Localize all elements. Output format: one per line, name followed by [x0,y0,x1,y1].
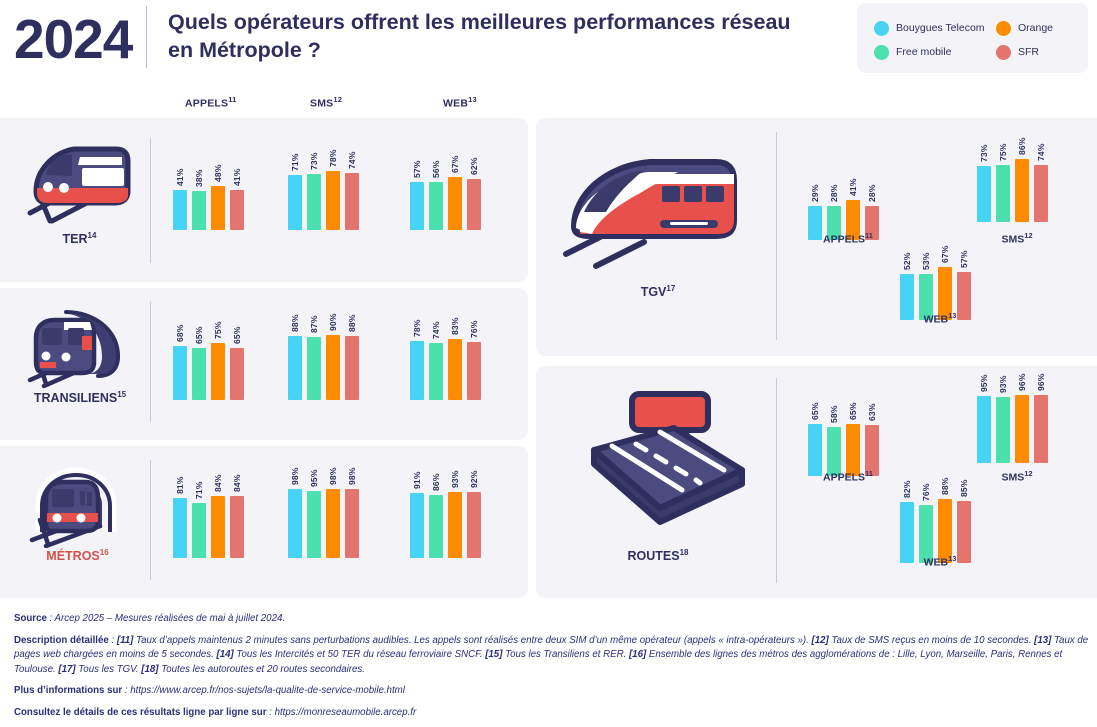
bar-free-mobile: 71% [192,503,206,559]
mode-label-text: TGV [641,285,667,299]
bar [173,346,187,400]
bar [429,495,443,558]
bar-orange: 78% [326,171,340,230]
legend: Bouygues Telecom Orange Free mobile SFR [857,3,1088,73]
bar-sfr: 62% [467,179,481,230]
bar-chart-metros-appels: 81%71%84%84% [173,466,253,558]
card-divider [150,138,151,263]
bar-value-label: 53% [921,252,931,270]
bars: 57%56%67%62% [410,177,481,231]
bar [307,337,321,401]
bar-value-label: 98% [347,467,357,485]
bar-value-label: 58% [829,405,839,423]
bar-free-mobile: 95% [307,491,321,559]
bars: 88%87%90%88% [288,335,359,400]
bar-value-label: 65% [194,326,204,344]
bar-value-label: 96% [1036,373,1046,391]
footnote-number: [14] [217,649,234,660]
bar-orange: 90% [326,335,340,400]
legend-item-bouygues[interactable]: Bouygues Telecom [874,16,996,40]
card-ter: TER14 41%38%48%41% 71%73%78%74% 57%56%67… [0,118,528,282]
legend-label: Free mobile [896,46,951,58]
bar-chart-tgv-sms: 73%75%86%74% [977,130,1057,222]
bar [326,171,340,230]
bar-value-label: 81% [175,476,185,494]
bar-value-label: 76% [469,320,479,338]
sub-label-text: APPELS [823,234,865,246]
card-divider [150,302,151,422]
bar-value-label: 41% [848,178,858,196]
bar-bouygues-telecom: 68% [173,346,187,400]
bar-value-label: 65% [232,326,242,344]
card-divider [776,132,777,340]
bar-value-label: 71% [194,481,204,499]
footnote-ref: 14 [88,231,97,240]
page-title: Quels opérateurs offrent les meilleures … [168,8,808,64]
bar-value-label: 48% [213,164,223,182]
bars: 98%95%98%98% [288,489,359,558]
bar-chart-transiliens-appels: 68%65%75%65% [173,308,253,400]
bar [230,348,244,401]
legend-label: Orange [1018,22,1053,34]
bar-value-label: 95% [309,469,319,487]
bar-free-mobile: 56% [429,182,443,230]
footer-sep: : [109,635,117,646]
mode-label-transiliens: TRANSILIENS15 [5,390,155,405]
bar-sfr: 74% [345,173,359,230]
bar-value-label: 28% [829,184,839,202]
footnote-ref: 11 [228,95,236,104]
footnote-number: [17] [58,664,75,675]
bar [1015,395,1029,463]
sub-label-text: APPELS [823,472,865,484]
bar-value-label: 68% [175,324,185,342]
bars: 78%74%83%76% [410,339,481,401]
bar-bouygues-telecom: 88% [288,336,302,400]
legend-label: Bouygues Telecom [896,22,985,34]
card-divider [150,460,151,580]
bar [288,336,302,400]
bar-value-label: 91% [412,471,422,489]
column-header-sms: SMS12 [310,95,342,110]
bar-orange: 67% [448,177,462,231]
footer-notes: [11] Taux d’appels maintenus 2 minutes s… [14,635,1088,675]
bar [345,336,359,400]
suburban-train-tunnel-icon [24,300,134,395]
sub-label-routes-appels: APPELS11 [788,469,908,484]
bar [230,496,244,558]
bar-bouygues-telecom: 81% [173,498,187,559]
dot-icon [996,21,1011,36]
bar-value-label: 93% [450,470,460,488]
bar-orange: 75% [211,343,225,401]
footnote-number: [13] [1034,635,1051,646]
year-title: 2024 [14,8,132,70]
bar [448,492,462,559]
bar [345,489,359,558]
bar [977,396,991,464]
bar [429,182,443,230]
bar [448,177,462,231]
bar-value-label: 67% [940,245,950,263]
legend-item-free[interactable]: Free mobile [874,40,996,64]
bar [977,166,991,223]
footnote-ref: 16 [100,548,109,557]
column-header-web-label: WEB [443,98,468,110]
bar [996,397,1010,464]
bar-value-label: 86% [431,473,441,491]
column-header-appels-label: APPELS [185,98,228,110]
bar-sfr: 76% [467,342,481,400]
sub-label-text: WEB [924,314,949,326]
bar-value-label: 67% [450,155,460,173]
bar-chart-ter-appels: 41%38%48%41% [173,138,253,230]
footnote-ref: 12 [1024,231,1032,240]
regional-train-icon [22,135,137,235]
bar-value-label: 29% [810,184,820,202]
bar-value-label: 41% [232,168,242,186]
bar-value-label: 57% [412,160,422,178]
bar-orange: 83% [448,339,462,401]
bar-value-label: 65% [810,402,820,420]
bar-value-label: 82% [902,480,912,498]
bar-value-label: 96% [1017,373,1027,391]
bar-value-label: 76% [921,483,931,501]
bar-bouygues-telecom: 57% [410,182,424,231]
legend-label: SFR [1018,46,1039,58]
bar-orange: 48% [211,186,225,230]
bar-value-label: 87% [309,315,319,333]
bar [1034,165,1048,222]
footer-source-label: Source [14,613,47,624]
bar-chart-routes-appels: 65%58%65%63% [808,384,888,476]
bar-value-label: 73% [309,152,319,170]
bar-value-label: 65% [848,402,858,420]
dot-icon [874,21,889,36]
legend-item-sfr[interactable]: SFR [996,40,1086,64]
footer-source-text: : Arcep 2025 – Mesures réalisées de mai … [47,613,285,624]
footnote-ref: 13 [468,95,477,104]
bar-orange: 84% [211,496,225,558]
bar-value-label: 83% [450,317,460,335]
bar-value-label: 90% [328,313,338,331]
legend-item-orange[interactable]: Orange [996,16,1086,40]
footer-source: Source : Arcep 2025 – Mesures réalisées … [14,612,1089,627]
bars: 68%65%75%65% [173,343,244,401]
bar-bouygues-telecom: 78% [410,341,424,400]
bar [326,489,340,558]
bar [467,179,481,230]
mode-label-tgv: TGV17 [558,284,758,299]
bar-bouygues-telecom: 98% [288,489,302,558]
bar [996,165,1010,223]
bar-value-label: 98% [328,467,338,485]
footer-details: Consultez le détails de ces résultats li… [14,706,1089,721]
bar-value-label: 41% [175,168,185,186]
bar [192,191,206,230]
bar-value-label: 38% [194,169,204,187]
bar-free-mobile: 73% [307,174,321,231]
bar-sfr: 88% [345,336,359,400]
card-metros: MÉTROS16 81%71%84%84% 98%95%98%98% 91%86… [0,446,528,598]
column-header-sms-label: SMS [310,98,333,110]
bar [1015,159,1029,222]
highway-sign-icon [574,384,754,539]
footnote-ref: 13 [948,311,956,320]
bar [173,498,187,559]
sub-label-routes-sms: SMS12 [957,469,1077,484]
bar-chart-routes-sms: 95%93%96%96% [977,371,1057,463]
bar-value-label: 95% [979,374,989,392]
footer-details-label: Consultez le détails de ces résultats li… [14,707,267,718]
card-tgv: TGV17 29%28%41%28% APPELS11 52%53%67%57%… [536,118,1097,356]
footnote-ref: 18 [680,548,689,557]
bar-orange: 98% [326,489,340,558]
bar [467,492,481,558]
bars: 91%86%93%92% [410,492,481,559]
bar-free-mobile: 65% [192,348,206,401]
bar [467,342,481,400]
footer-more-info-url[interactable]: : https://www.arcep.fr/nos-sujets/la-qua… [122,685,405,696]
bar-free-mobile: 75% [996,165,1010,223]
bar-sfr: 98% [345,489,359,558]
bar-value-label: 86% [1017,137,1027,155]
bar-sfr: 74% [1034,165,1048,222]
bar-chart-transiliens-sms: 88%87%90%88% [288,308,368,400]
mode-label-metros: MÉTROS16 [10,548,145,563]
dot-icon [996,45,1011,60]
bar-sfr: 92% [467,492,481,558]
bar [211,343,225,401]
bar-value-label: 52% [902,252,912,270]
footnote-ref: 11 [865,469,873,478]
sub-label-text: WEB [924,557,949,569]
bar-value-label: 93% [998,375,1008,393]
column-header-appels: APPELS11 [185,95,237,110]
infographic-page: 2024 Quels opérateurs offrent les meille… [0,0,1097,727]
bar-value-label: 88% [347,314,357,332]
bar-value-label: 56% [431,160,441,178]
bar-value-label: 74% [1036,143,1046,161]
mode-label-text: MÉTROS [46,549,99,563]
bar-sfr: 96% [1034,395,1048,463]
bar-chart-ter-sms: 71%73%78%74% [288,138,368,230]
footer-description: Description détaillée : [11] Taux d’appe… [14,634,1089,678]
bar-bouygues-telecom: 95% [977,396,991,464]
footer: Source : Arcep 2025 – Mesures réalisées … [14,612,1089,727]
bars: 95%93%96%96% [977,395,1048,463]
sub-label-text: SMS [1001,472,1024,484]
bar-chart-metros-sms: 98%95%98%98% [288,466,368,558]
bar [211,186,225,230]
card-divider [776,378,777,583]
bar-chart-transiliens-web: 78%74%83%76% [410,308,490,400]
sub-label-routes-web: WEB13 [880,554,1000,569]
bars: 73%75%86%74% [977,159,1048,222]
footnote-ref: 15 [117,390,126,399]
sub-label-tgv-appels: APPELS11 [788,231,908,246]
bar-value-label: 62% [469,157,479,175]
bar-value-label: 63% [867,403,877,421]
bar-bouygues-telecom: 71% [288,175,302,231]
footer-more-info-label: Plus d’informations sur [14,685,122,696]
bar [192,348,206,401]
bar-value-label: 75% [213,321,223,339]
bar-free-mobile: 86% [429,495,443,558]
bar-orange: 93% [448,492,462,559]
card-routes: ROUTES18 65%58%65%63% APPELS11 82%76%88%… [536,366,1097,598]
bar-value-label: 74% [347,151,357,169]
bar-value-label: 73% [979,144,989,162]
sub-label-text: SMS [1001,234,1024,246]
bar [230,190,244,231]
bar-value-label: 75% [998,143,1008,161]
sub-label-tgv-web: WEB13 [880,311,1000,326]
bar-free-mobile: 74% [429,343,443,400]
mode-label-text: TRANSILIENS [34,391,117,405]
footnote-ref: 17 [666,284,675,293]
footnote-number: [15] [485,649,502,660]
footnote-number: [16] [629,649,646,660]
footnote-number: [12] [812,635,829,646]
bar-orange: 96% [1015,395,1029,463]
bar-sfr: 84% [230,496,244,558]
footnote-number: [18] [141,664,158,675]
footnote-ref: 11 [865,231,873,240]
bar [410,341,424,400]
mode-label-text: TER [63,232,88,246]
header-divider [146,6,147,68]
bar-free-mobile: 93% [996,397,1010,464]
bar-value-label: 28% [867,184,877,202]
page-header: 2024 Quels opérateurs offrent les meille… [0,0,1097,86]
bar-chart-metros-web: 91%86%93%92% [410,466,490,558]
card-transiliens: TRANSILIENS15 68%65%75%65% 88%87%90%88% … [0,288,528,440]
mode-label-routes: ROUTES18 [558,548,758,563]
bar [211,496,225,558]
column-header-web: WEB13 [443,95,477,110]
bar [1034,395,1048,463]
footnote-ref: 13 [948,554,956,563]
bar-value-label: 84% [213,474,223,492]
bar [192,503,206,559]
bar-value-label: 74% [431,321,441,339]
footer-more-info: Plus d’informations sur : https://www.ar… [14,684,1089,699]
footnote-ref: 12 [333,95,342,104]
bar-value-label: 88% [290,314,300,332]
bar-bouygues-telecom: 73% [977,166,991,223]
footer-description-label: Description détaillée [14,635,109,646]
bar [410,493,424,559]
bar-value-label: 78% [328,149,338,167]
mode-label-ter: TER14 [22,231,137,246]
bar-value-label: 92% [469,470,479,488]
bar [448,339,462,401]
bars: 81%71%84%84% [173,496,244,558]
bar [429,343,443,400]
metro-tunnel-icon [24,458,134,553]
bar-value-label: 88% [940,477,950,495]
mode-label-text: ROUTES [628,549,680,563]
bar [345,173,359,230]
bar [326,335,340,400]
footer-details-url[interactable]: : https://monreseaumobile.arcep.fr [267,707,417,718]
bar [307,174,321,231]
bar [288,489,302,558]
bar-bouygues-telecom: 91% [410,493,424,559]
bar [288,175,302,231]
bar-value-label: 71% [290,153,300,171]
bar [307,491,321,559]
highspeed-train-icon [558,142,758,287]
footnote-ref: 12 [1024,469,1032,478]
bar-free-mobile: 87% [307,337,321,401]
bars: 41%38%48%41% [173,186,244,230]
bar-free-mobile: 38% [192,191,206,230]
bar [173,190,187,231]
bar-bouygues-telecom: 41% [173,190,187,231]
sub-label-tgv-sms: SMS12 [957,231,1077,246]
bar-sfr: 41% [230,190,244,231]
bar [410,182,424,231]
bar-orange: 86% [1015,159,1029,222]
footnote-number: [11] [117,635,134,646]
bars: 71%73%78%74% [288,171,359,230]
bar-value-label: 84% [232,474,242,492]
bar-value-label: 98% [290,467,300,485]
bar-value-label: 57% [959,250,969,268]
bar-chart-routes-web: 82%76%88%85% [900,471,980,563]
dot-icon [874,45,889,60]
bar-chart-ter-web: 57%56%67%62% [410,138,490,230]
bar-chart-tgv-appels: 29%28%41%28% [808,148,888,240]
bar-value-label: 78% [412,319,422,337]
bar-sfr: 65% [230,348,244,401]
